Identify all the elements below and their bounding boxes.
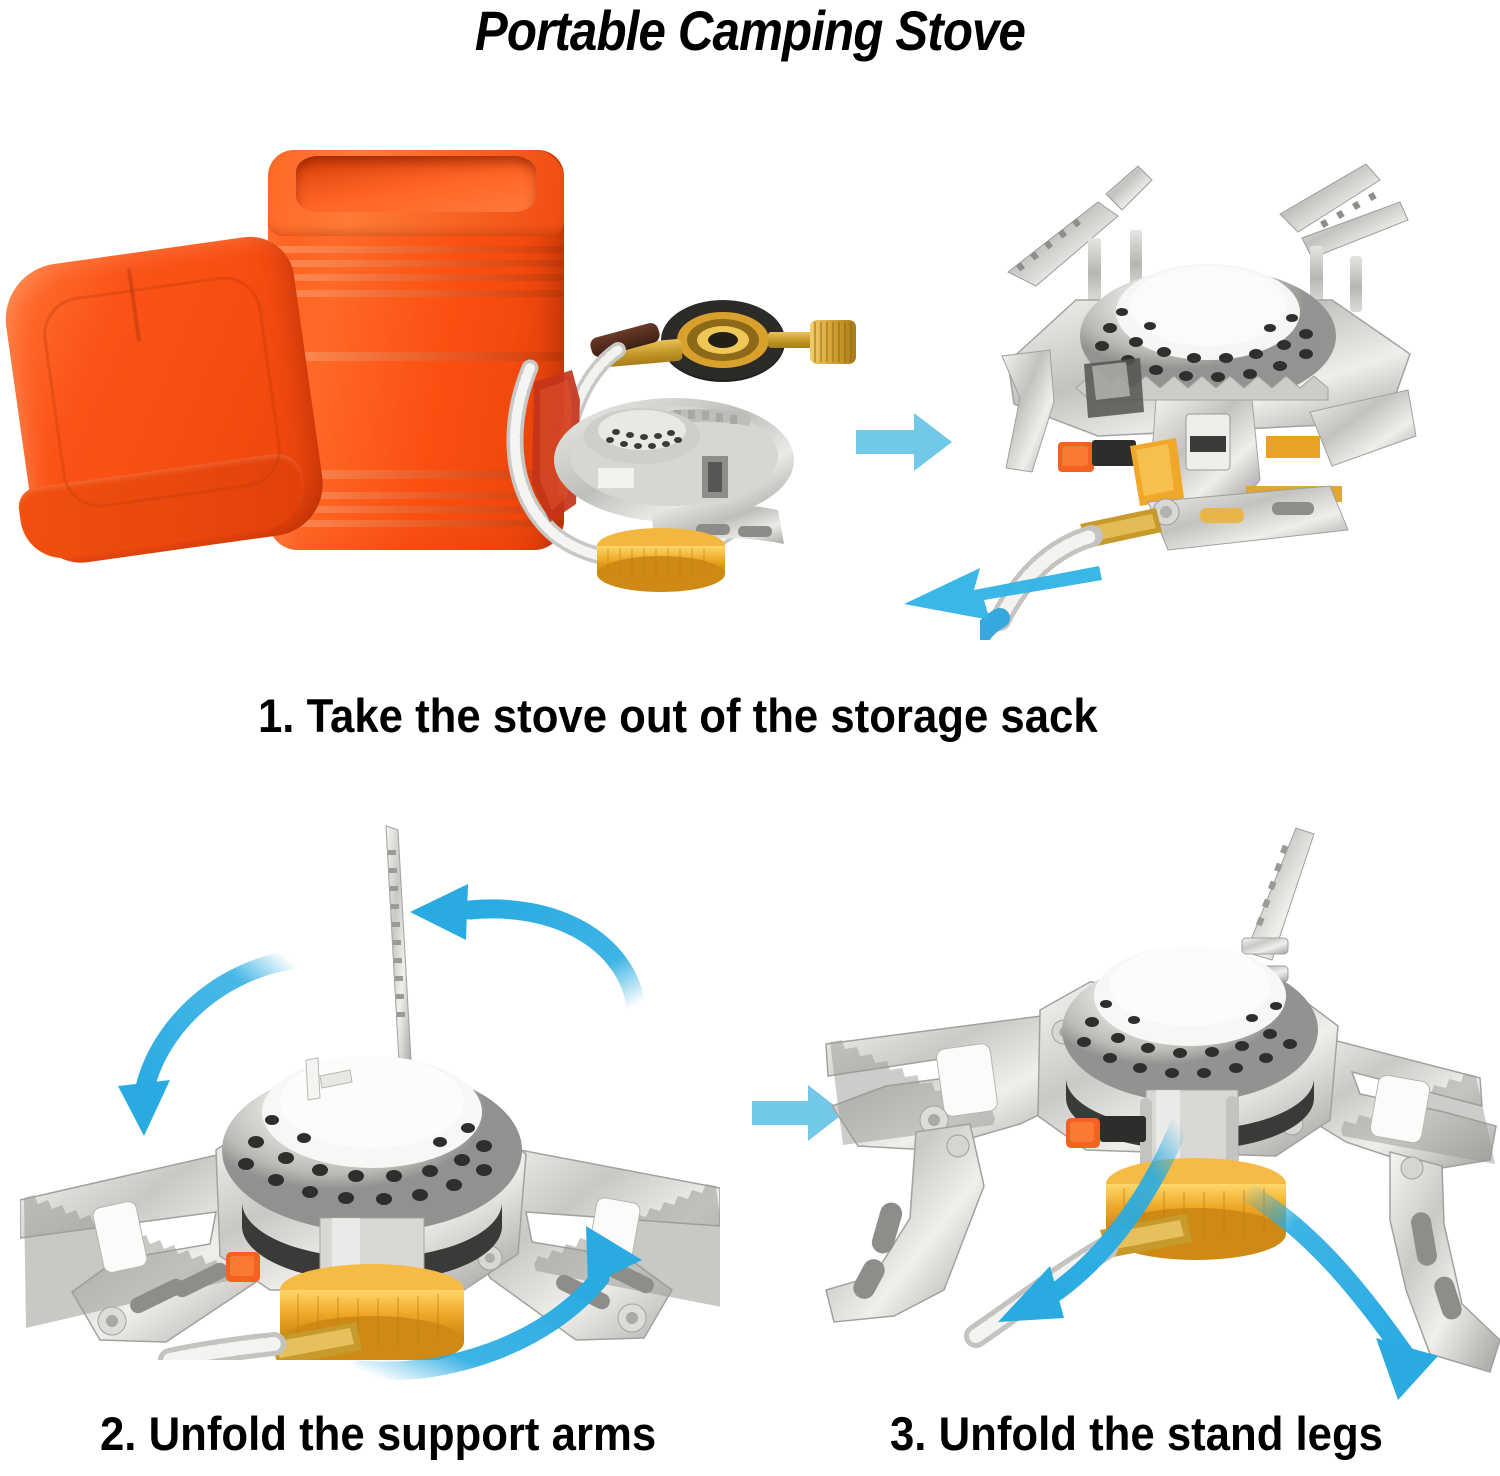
curved-arrow-top-left (350, 882, 650, 1022)
step-2-caption: 2. Unfold the support arms (100, 1406, 656, 1461)
step-3-caption: 3. Unfold the stand legs (890, 1406, 1383, 1461)
folded-stove-with-hose (500, 300, 860, 600)
hose-direction-arrow (894, 558, 1104, 628)
curved-arrow-left-down (100, 950, 350, 1140)
step-1-caption: 1. Take the stove out of the storage sac… (258, 688, 1098, 743)
stove-with-support-arms (20, 820, 720, 1360)
unfolded-stove-collapsed-legs (980, 150, 1430, 640)
curved-arrow-right-up (350, 1202, 680, 1392)
page-title: Portable Camping Stove (90, 0, 1410, 62)
gold-knurled-collar (596, 526, 726, 596)
curved-arrow-left-down (980, 1110, 1210, 1340)
curved-arrow-right-down (1230, 1160, 1500, 1410)
stove-with-stand-legs (790, 820, 1500, 1380)
straight-blue-arrow (856, 410, 952, 474)
brass-control-knob (806, 316, 862, 368)
